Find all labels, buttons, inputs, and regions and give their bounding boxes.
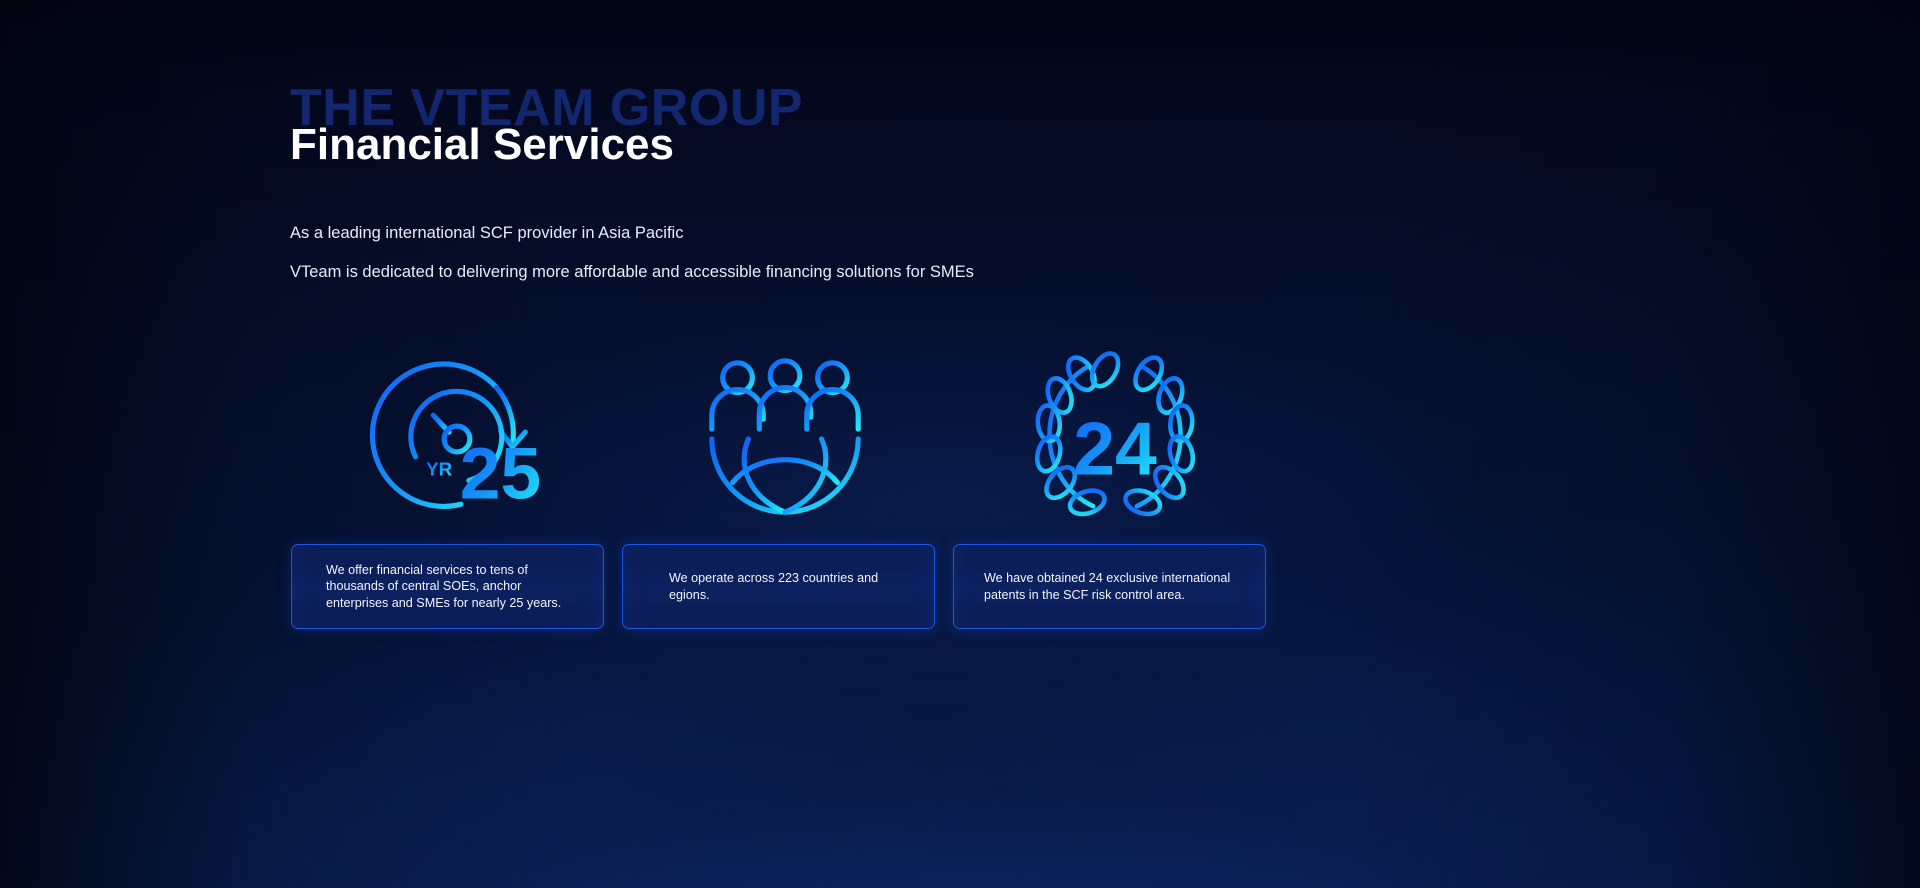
info-card-text: We offer financial services to tens of t… [326, 562, 581, 610]
intro-paragraphs: As a leading international SCF provider … [290, 222, 1340, 284]
laurel-icon-value: 24 [1073, 407, 1157, 491]
intro-line-1: As a leading international SCF provider … [290, 222, 1340, 244]
hero-heading-block: THE VTEAM GROUP Financial Services [290, 82, 1290, 167]
info-cards-row: We offer financial services to tens of t… [291, 544, 1291, 629]
info-card-text: We have obtained 24 exclusive internatio… [984, 570, 1243, 602]
clock-icon-value: 25 [460, 432, 541, 514]
people-globe-icon [696, 348, 874, 526]
content-container: THE VTEAM GROUP Financial Services As a … [290, 0, 1630, 888]
stat-column-years: YR 25 [290, 348, 620, 526]
info-card-patents[interactable]: We have obtained 24 exclusive internatio… [953, 544, 1266, 629]
stat-column-countries [620, 348, 950, 526]
stats-icon-row: YR 25 [290, 348, 1290, 526]
clock-25-years-icon: YR 25 [366, 348, 544, 526]
intro-line-2: VTeam is dedicated to delivering more af… [290, 261, 1340, 283]
info-card-countries[interactable]: We operate across 223 countries and egio… [622, 544, 935, 629]
stat-column-patents: 24 [950, 348, 1280, 526]
page-root: THE VTEAM GROUP Financial Services As a … [0, 0, 1920, 888]
laurel-wreath-24-icon: 24 [1026, 348, 1204, 526]
info-card-text: We operate across 223 countries and egio… [669, 570, 912, 602]
clock-icon-yr-label: YR [426, 459, 453, 480]
info-card-years[interactable]: We offer financial services to tens of t… [291, 544, 604, 629]
